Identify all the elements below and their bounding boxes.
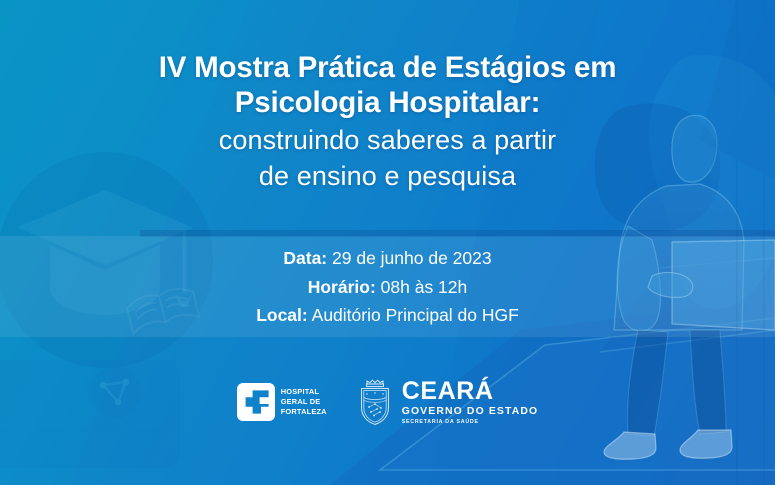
hgf-line-3: FORTALEZA (281, 407, 327, 417)
detail-row-time: Horário: 08h às 12h (0, 273, 775, 302)
hospital-cross-icon (237, 383, 275, 421)
detail-value-date: 29 de junho de 2023 (332, 248, 492, 268)
ceara-logo: CEARÁ GOVERNO DO ESTADO SECRETARIA DA SA… (355, 378, 539, 426)
ceara-coat-of-arms-icon (355, 378, 395, 426)
detail-label-date: Data: (283, 248, 327, 268)
detail-row-location: Local: Auditório Principal do HGF (0, 301, 775, 330)
logo-row: HOSPITAL GERAL DE FORTALEZA (0, 378, 775, 426)
detail-value-time: 08h às 12h (381, 277, 468, 297)
detail-label-location: Local: (256, 305, 308, 325)
title-line-1: IV Mostra Prática de Estágios em (0, 50, 775, 85)
hgf-line-1: HOSPITAL (281, 387, 327, 397)
ceara-government-label: GOVERNO DO ESTADO (402, 407, 539, 417)
event-poster: IV Mostra Prática de Estágios em Psicolo… (0, 0, 775, 485)
detail-label-time: Horário: (308, 277, 376, 297)
subtitle-line-1: construindo saberes a partir (0, 124, 775, 156)
ceara-name: CEARÁ (402, 379, 539, 404)
hgf-line-2: GERAL DE (281, 397, 327, 407)
title-line-2: Psicologia Hospitalar: (0, 85, 775, 120)
hgf-wordmark: HOSPITAL GERAL DE FORTALEZA (281, 387, 327, 416)
detail-row-date: Data: 29 de junho de 2023 (0, 244, 775, 273)
event-details: Data: 29 de junho de 2023 Horário: 08h à… (0, 244, 775, 330)
page-title: IV Mostra Prática de Estágios em Psicolo… (0, 50, 775, 192)
hgf-logo: HOSPITAL GERAL DE FORTALEZA (237, 383, 327, 421)
detail-value-location: Auditório Principal do HGF (312, 305, 519, 325)
ceara-secretariat-label: SECRETARIA DA SAÚDE (402, 420, 539, 425)
ceara-wordmark: CEARÁ GOVERNO DO ESTADO SECRETARIA DA SA… (402, 379, 539, 426)
subtitle-line-2: de ensino e pesquisa (0, 160, 775, 192)
